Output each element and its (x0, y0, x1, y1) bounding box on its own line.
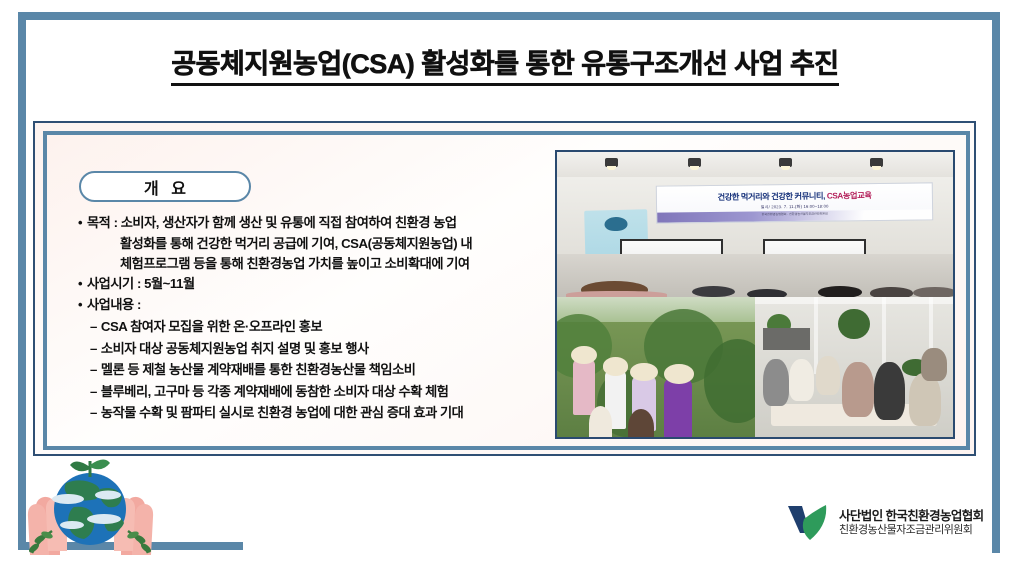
list-item-continuation: 활성화를 통해 건강한 먹거리 공급에 기여, CSA(공동체지원농업) 내 (73, 234, 543, 254)
banner-title-main: 건강한 먹거리와 건강한 커뮤니티, (718, 191, 827, 201)
list-item: • 목적 : 소비자, 생산자가 함께 생산 및 유통에 직접 참여하여 친환경… (73, 213, 543, 233)
logo-organization-name: 사단법인 한국친환경농업협회 (839, 509, 984, 524)
logo-text-block: 사단법인 한국친환경농업협회 친환경농산물자조금관리위원회 (839, 509, 984, 538)
association-logo-icon (786, 503, 830, 543)
overview-list: • 목적 : 소비자, 생산자가 함께 생산 및 유통에 직접 참여하여 친환경… (73, 213, 543, 424)
frame-right-bar (992, 12, 1000, 553)
attendee-head (581, 281, 648, 298)
sprout-leaf-left (70, 461, 90, 471)
banner-title: 건강한 먹거리와 건강한 커뮤니티, CSA농업교육 (718, 189, 872, 203)
slide-title: 공동체지원농업(CSA) 활성화를 통한 유통구조개선 사업 추진 (171, 42, 838, 86)
list-item: • 사업내용 : (73, 295, 543, 315)
greenhouse-frame (755, 297, 953, 304)
ceiling-light-icon (870, 158, 883, 167)
banner-date: 일시/ 2023. 7. 11.(화) 16:00~18:00 (761, 203, 829, 210)
sun-hat-icon (603, 357, 629, 375)
list-item-label: 사업시기 : 5월~11월 (87, 274, 543, 294)
ceiling-light-icon (605, 158, 618, 167)
section-tab-overview: 개 요 (79, 171, 251, 202)
cloud (60, 521, 84, 529)
blueberry-harvest-experience-photo (557, 297, 755, 437)
cloud (95, 491, 121, 500)
dash-icon: – (90, 341, 97, 356)
participant (921, 348, 947, 382)
participant (874, 362, 906, 421)
sprout-leaf-right (90, 459, 110, 469)
attendee-head (870, 287, 914, 297)
ceiling-light-icon (688, 158, 701, 167)
ceiling-light-icon (779, 158, 792, 167)
visitor (628, 409, 654, 437)
participant (763, 359, 789, 406)
sub-list-item: –소비자 대상 공동체지원농업 취지 설명 및 홍보 행사 (73, 338, 543, 360)
participant (816, 356, 840, 395)
floor (557, 254, 953, 298)
list-item-continuation: 체험프로그램 등을 통해 친환경농업 가치를 높이고 소비확대에 기여 (73, 254, 543, 274)
sub-list-item: –농작물 수확 및 팜파티 실시로 친환경 농업에 대한 관심 증대 효과 기대 (73, 402, 543, 424)
visitor (589, 406, 613, 437)
banner-title-highlight: CSA농업교육 (827, 191, 872, 201)
participant (842, 362, 874, 418)
logo-committee-name: 친환경농산물자조금관리위원회 (839, 524, 984, 537)
sub-list-item-label: CSA 참여자 모집을 위한 온·오프라인 홍보 (101, 319, 322, 334)
attendee-head (913, 287, 953, 297)
frame-top-bar (18, 12, 1000, 20)
attendee-head (692, 286, 736, 298)
visitor (664, 378, 692, 437)
bullet-dot-icon: • (73, 295, 87, 315)
content-box: 개 요 • 목적 : 소비자, 생산자가 함께 생산 및 유통에 직접 참여하여… (33, 121, 976, 456)
sub-list-item: –멜론 등 제철 농산물 계약재배를 통한 친환경농산물 책임소비 (73, 359, 543, 381)
banner-sponsors: 한국친환경농업협회 · 친환경농산물자조금관리위원회 (762, 211, 828, 216)
list-item-label: 사업내용 : (87, 295, 543, 315)
sun-hat-icon (571, 346, 597, 364)
farm-party-greenhouse-photo (755, 297, 953, 437)
sun-hat-icon (630, 363, 658, 381)
csa-education-seminar-photo: 건강한 먹거리와 건강한 커뮤니티, CSA농업교육 일시/ 2023. 7. … (557, 152, 953, 297)
cloud (52, 494, 84, 504)
sub-list-item-label: 소비자 대상 공동체지원농업 취지 설명 및 홍보 행사 (101, 341, 369, 356)
participant (789, 359, 815, 401)
dash-icon: – (90, 405, 97, 420)
slide-title-container: 공동체지원농업(CSA) 활성화를 통한 유통구조개선 사업 추진 (0, 42, 1010, 86)
organization-logo-block: 사단법인 한국친환경농업협회 친환경농산물자조금관리위원회 (786, 503, 984, 543)
visitor (573, 359, 595, 415)
dash-icon: – (90, 319, 97, 334)
earth-illustration-svg (8, 455, 173, 560)
slide-root: 공동체지원농업(CSA) 활성화를 통한 유통구조개선 사업 추진 개 요 • … (0, 0, 1010, 565)
hands-holding-earth-with-sprout (8, 455, 173, 560)
potted-plant (838, 309, 870, 340)
sub-list-item-label: 블루베리, 고구마 등 각종 계약재배에 동참한 소비자 대상 수확 체험 (101, 384, 449, 399)
dash-icon: – (90, 384, 97, 399)
attendee-head (818, 286, 862, 298)
bottom-photo-row (557, 297, 953, 437)
logo-green-leaf (803, 505, 826, 540)
bullet-dot-icon: • (73, 213, 87, 233)
counter-shelf (763, 328, 811, 350)
list-item: • 사업시기 : 5월~11월 (73, 274, 543, 294)
list-item-label: 목적 : 소비자, 생산자가 함께 생산 및 유통에 직접 참여하여 친환경 농… (87, 213, 543, 233)
seminar-banner: 건강한 먹거리와 건강한 커뮤니티, CSA농업교육 일시/ 2023. 7. … (656, 182, 934, 223)
attendee-head (747, 289, 787, 298)
sub-list-item-label: 농작물 수확 및 팜파티 실시로 친환경 농업에 대한 관심 증대 효과 기대 (101, 405, 463, 420)
bullet-dot-icon: • (73, 274, 87, 294)
sub-list-item: –블루베리, 고구마 등 각종 계약재배에 동참한 소비자 대상 수확 체험 (73, 381, 543, 403)
sun-hat-icon (664, 364, 694, 384)
cloud (87, 514, 121, 524)
sub-list-item-label: 멜론 등 제철 농산물 계약재배를 통한 친환경농산물 책임소비 (101, 362, 416, 377)
dash-icon: – (90, 362, 97, 377)
section-tab-label: 개 요 (140, 175, 190, 199)
content-inner-panel: 개 요 • 목적 : 소비자, 생산자가 함께 생산 및 유통에 직접 참여하여… (43, 131, 970, 450)
photo-panel: 건강한 먹거리와 건강한 커뮤니티, CSA농업교육 일시/ 2023. 7. … (555, 150, 955, 439)
sub-list-item: –CSA 참여자 모집을 위한 온·오프라인 홍보 (73, 316, 543, 338)
